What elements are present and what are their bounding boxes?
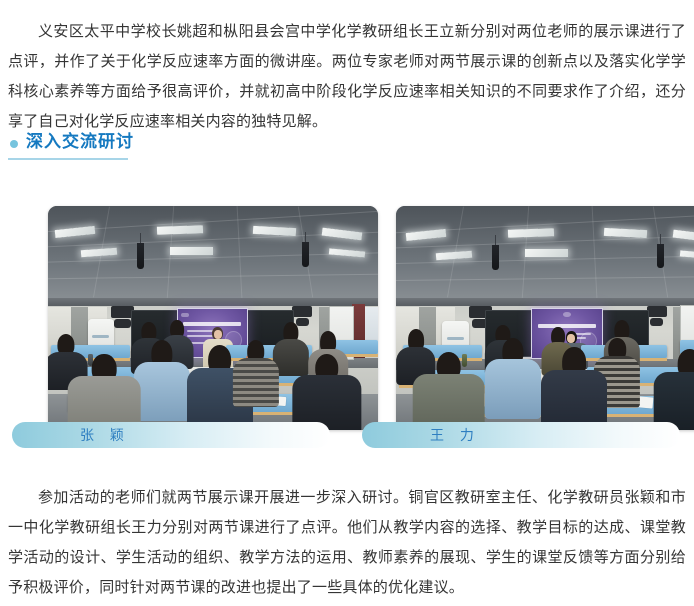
- ceiling-light: [252, 226, 295, 236]
- photo-figure-2: [396, 206, 694, 430]
- seated-attendee: [233, 340, 279, 403]
- intro-paragraph: 义安区太平中学校长姚超和枞阳县会宫中学化学教研组长王立新分别对两位老师的展示课进…: [8, 17, 686, 137]
- seated-attendee: [485, 338, 541, 414]
- ceiling-light: [157, 225, 203, 235]
- slide-logo: [181, 313, 189, 317]
- classroom-scene-2: [396, 206, 694, 430]
- ceiling-light: [525, 249, 568, 256]
- ceiling-light: [322, 227, 362, 240]
- classroom-photo-1[interactable]: [48, 206, 378, 430]
- photo-gallery: [0, 190, 694, 414]
- section-heading: 深入交流研讨: [8, 130, 308, 168]
- ceiling-light: [170, 247, 213, 254]
- photo-caption-2: 王 力: [362, 422, 680, 448]
- photo-caption-2-label: 王 力: [392, 425, 512, 445]
- seated-attendee: [134, 340, 190, 416]
- pendant-speaker: [657, 244, 664, 268]
- ceiling-light: [604, 228, 647, 238]
- ceiling-light: [508, 228, 554, 238]
- pendant-speaker: [137, 243, 144, 269]
- article-page: 义安区太平中学校长姚超和枞阳县会宫中学化学教研组长王立新分别对两位老师的展示课进…: [0, 0, 694, 606]
- ceiling: [48, 206, 378, 298]
- classroom-scene-1: [48, 206, 378, 430]
- wall-camera: [114, 319, 131, 328]
- seated-attendee: [653, 349, 694, 430]
- photo-caption-1-label: 张 颖: [42, 425, 162, 445]
- pendant-speaker: [302, 242, 309, 267]
- wall-speaker: [647, 306, 667, 318]
- pendant-speaker: [492, 245, 499, 270]
- photo-caption-1: 张 颖: [12, 422, 330, 448]
- ceiling-light: [54, 226, 94, 238]
- wall-speaker: [292, 306, 312, 318]
- ceiling-light: [680, 250, 694, 260]
- ceiling-light: [673, 229, 694, 242]
- photo-figure-1: [48, 206, 378, 430]
- ceiling-light: [81, 248, 118, 258]
- seated-attendee: [68, 354, 141, 430]
- seated-attendee: [413, 352, 486, 430]
- ceiling-light: [328, 248, 365, 258]
- section-heading-label: 深入交流研讨: [26, 130, 134, 154]
- wall-camera: [650, 318, 663, 326]
- seated-attendee: [541, 347, 607, 430]
- ceiling-light: [435, 251, 472, 261]
- closing-paragraph: 参加活动的老师们就两节展示课开展进一步深入研讨。铜官区教研室主任、化学教研员张颖…: [8, 483, 686, 603]
- classroom-photo-2[interactable]: [396, 206, 694, 430]
- section-heading-underline: [8, 158, 128, 160]
- seated-attendee: [292, 354, 361, 430]
- slide-logo: [563, 312, 571, 317]
- ceiling: [396, 206, 694, 298]
- bullet-dot-icon: [10, 140, 18, 148]
